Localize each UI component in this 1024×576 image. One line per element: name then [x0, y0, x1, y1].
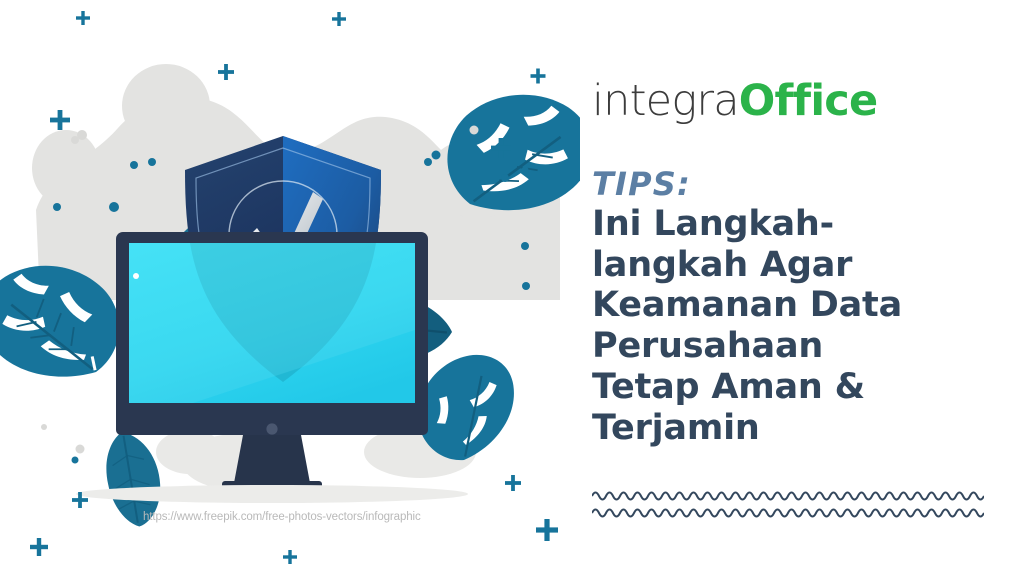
- source-url-text: https://www.freepik.com/free-photos-vect…: [143, 511, 421, 523]
- data-security-illustration: [0, 0, 580, 576]
- wave-line-2: [592, 510, 984, 517]
- headline-line: Tetap Aman &: [592, 367, 1012, 408]
- wave-line-1: [592, 493, 984, 500]
- headline-line: Keamanan Data: [592, 285, 1012, 326]
- logo-text-office: Office: [739, 76, 878, 126]
- content-panel: integraOffice TIPS: Ini Langkah- langkah…: [580, 0, 1024, 576]
- infographic-canvas: https://www.freepik.com/free-photos-vect…: [0, 0, 1024, 576]
- brand-logo: integraOffice: [592, 80, 877, 123]
- eyebrow-label: TIPS:: [592, 168, 1012, 202]
- page-title: Ini Langkah- langkah Agar Keamanan Data …: [592, 204, 1012, 450]
- monitor-power-dot: [266, 423, 277, 434]
- wavy-line-divider: [592, 483, 984, 523]
- headline-line: Terjamin: [592, 408, 1012, 449]
- logo-text-integra: integra: [592, 76, 739, 126]
- headline-block: TIPS: Ini Langkah- langkah Agar Keamanan…: [592, 168, 1012, 449]
- headline-line: langkah Agar: [592, 245, 1012, 286]
- monitor-shadow: [76, 485, 468, 503]
- headline-line: Perusahaan: [592, 326, 1012, 367]
- headline-line: Ini Langkah-: [592, 204, 1012, 245]
